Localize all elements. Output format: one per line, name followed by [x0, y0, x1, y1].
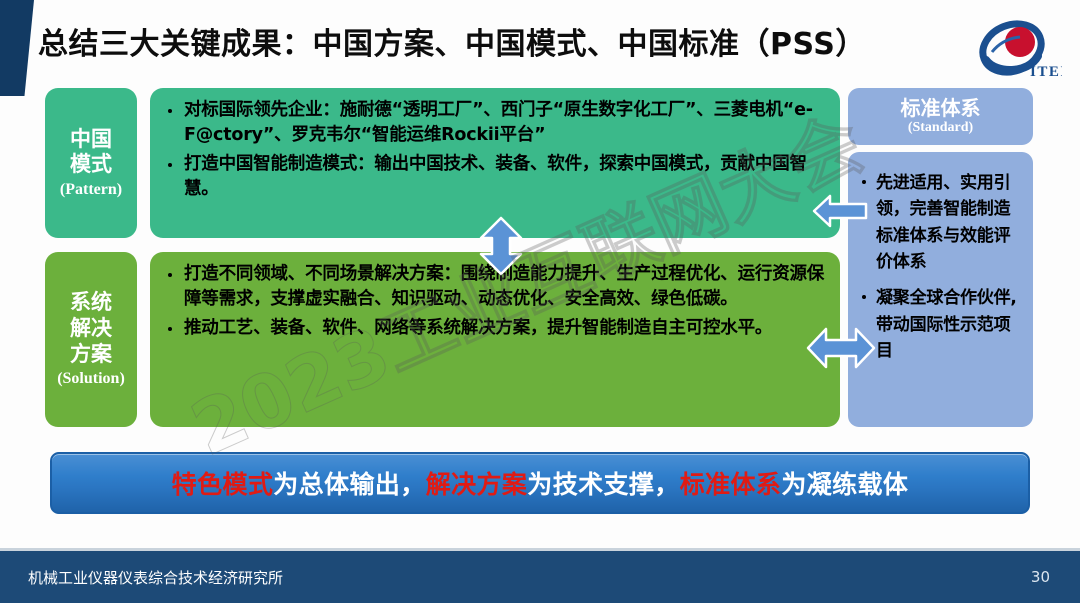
list-item: 先进适用、实用引领，完善智能制造标准体系与效能评价体系	[854, 170, 1023, 275]
banner-segment-4: 为技术支撑，	[527, 470, 679, 499]
standard-header-en: (Standard)	[908, 120, 973, 136]
content-box-solution: 打造不同领域、不同场景解决方案：围绕制造能力提升、生产过程优化、运行资源保障等需…	[150, 252, 840, 427]
banner-segment-1: 特色模式	[172, 470, 274, 499]
footer-page-number: 30	[1031, 568, 1050, 586]
slide-title-bar: 总结三大关键成果：中国方案、中国模式、中国标准（PSS）	[0, 0, 1080, 82]
vertical-double-arrow-icon	[478, 216, 524, 276]
slide-footer: 机械工业仪器仪表综合技术经济研究所 30	[0, 551, 1080, 603]
list-item: 对标国际领先企业：施耐德“透明工厂”、西门子“原生数字化工厂”、三菱电机“e-F…	[160, 98, 826, 148]
list-item: 推动工艺、装备、软件、网络等系统解决方案，提升智能制造自主可控水平。	[160, 316, 826, 341]
left-arrow-icon	[812, 193, 868, 229]
pattern-bullet-list: 对标国际领先企业：施耐德“透明工厂”、西门子“原生数字化工厂”、三菱电机“e-F…	[160, 98, 826, 201]
chip-pattern-en: (Pattern)	[60, 180, 122, 200]
page-title: 总结三大关键成果：中国方案、中国模式、中国标准（PSS）	[38, 19, 866, 63]
banner-segment-5: 标准体系	[680, 470, 782, 499]
banner-segment-3: 解决方案	[426, 470, 528, 499]
horizontal-double-arrow-icon	[806, 325, 876, 371]
chip-system-solution: 系统 解决 方案 (Solution)	[45, 252, 137, 427]
slide-canvas: 总结三大关键成果：中国方案、中国模式、中国标准（PSS） ITEI 2023工业…	[0, 0, 1080, 603]
chip-pattern-line-2: 模式	[70, 152, 112, 178]
itei-logo-icon: ITEI	[976, 18, 1062, 84]
chip-solution-line-2: 解决	[70, 316, 112, 342]
itei-logo: ITEI	[976, 18, 1062, 84]
banner-segment-2: 为总体输出，	[273, 470, 425, 499]
chip-pattern-line-1: 中国	[70, 127, 112, 153]
chip-china-pattern: 中国 模式 (Pattern)	[45, 88, 137, 238]
summary-banner: 特色模式为总体输出，解决方案为技术支撑，标准体系为凝练载体	[50, 452, 1030, 514]
banner-segment-6: 为凝练载体	[781, 470, 908, 499]
standard-panel-header: 标准体系 (Standard)	[848, 88, 1033, 145]
summary-banner-text: 特色模式为总体输出，解决方案为技术支撑，标准体系为凝练载体	[172, 465, 909, 501]
chip-solution-en: (Solution)	[57, 369, 125, 389]
list-item: 打造中国智能制造模式：输出中国技术、装备、软件，探索中国模式，贡献中国智慧。	[160, 152, 826, 202]
standard-panel-body: 先进适用、实用引领，完善智能制造标准体系与效能评价体系 凝聚全球合作伙伴,带动国…	[848, 152, 1033, 427]
standard-header-cn: 标准体系	[901, 97, 981, 120]
standard-bullet-list: 先进适用、实用引领，完善智能制造标准体系与效能评价体系 凝聚全球合作伙伴,带动国…	[854, 170, 1023, 364]
chip-solution-line-1: 系统	[70, 290, 112, 316]
list-item: 凝聚全球合作伙伴,带动国际性示范项目	[854, 285, 1023, 364]
chip-solution-line-3: 方案	[70, 342, 112, 368]
itei-logo-text: ITEI	[1030, 64, 1062, 80]
footer-organization: 机械工业仪器仪表综合技术经济研究所	[28, 567, 283, 588]
